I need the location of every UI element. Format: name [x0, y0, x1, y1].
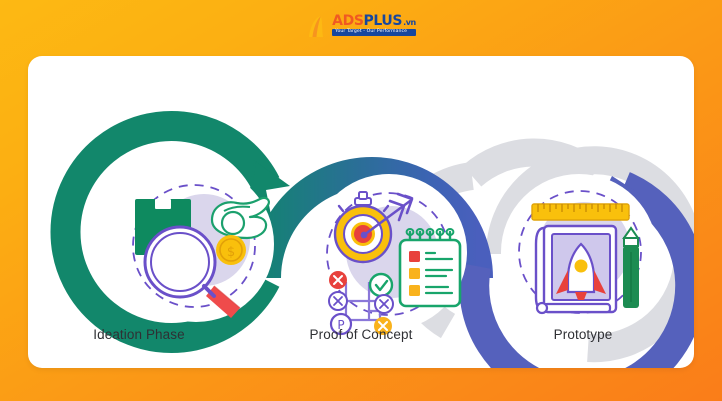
pencil-icon — [623, 228, 639, 308]
brand-name-ads: ADS — [332, 14, 363, 28]
ruler-icon — [532, 204, 629, 220]
checklist-notepad-icon — [400, 229, 460, 306]
stage-labels: Ideation Phase Proof of Concept Prototyp… — [28, 327, 694, 342]
brand-wordmark: ADSPLUS.vn — [332, 14, 416, 28]
brand-name-plus: PLUS — [364, 14, 403, 28]
stage-label-ideation: Ideation Phase — [28, 327, 250, 342]
brand-tagline: Your Target - Our Performance — [332, 29, 416, 36]
brand-logo: ADSPLUS.vn Your Target - Our Performance — [0, 14, 722, 39]
stage-label-proof-of-concept: Proof of Concept — [250, 327, 472, 342]
mountain-peak-icon — [306, 15, 330, 39]
process-diagram: $ — [28, 56, 694, 368]
brand-tld: .vn — [403, 19, 416, 27]
svg-text:$: $ — [227, 245, 235, 260]
flow-marker-check — [370, 274, 392, 296]
content-card: $ — [28, 56, 694, 368]
infographic-stage: ADSPLUS.vn Your Target - Our Performance — [0, 0, 722, 401]
stage-label-prototype: Prototype — [472, 327, 694, 342]
blueprint-rocket-icon — [536, 226, 616, 313]
